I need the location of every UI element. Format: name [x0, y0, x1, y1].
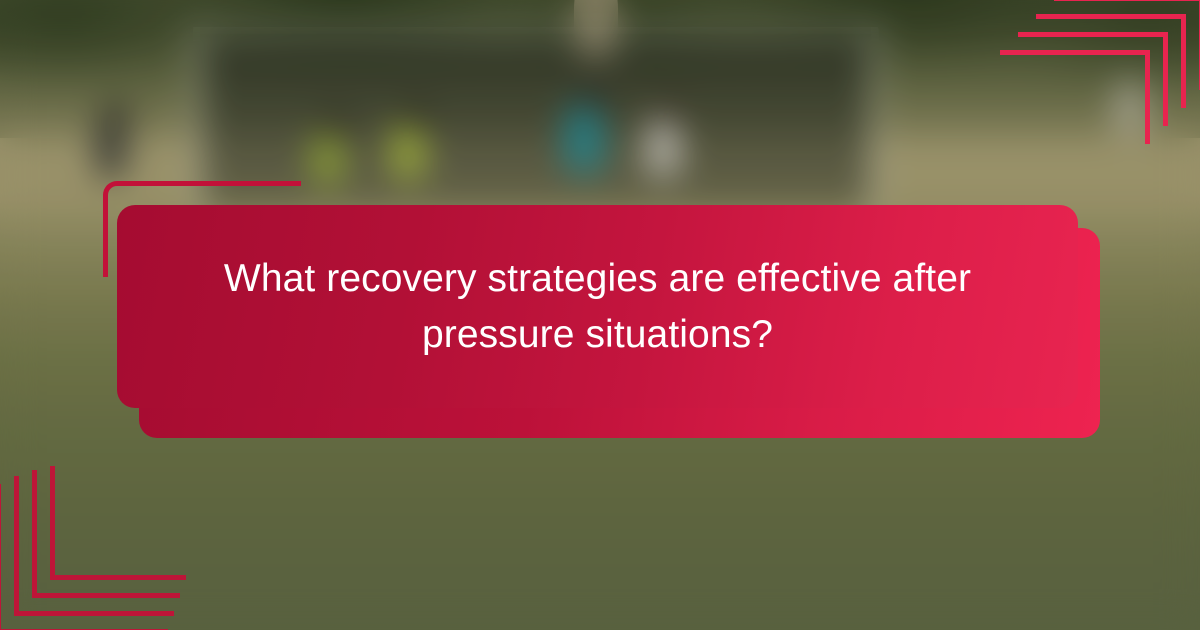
question-card-canvas: What recovery strategies are effective a… [0, 0, 1200, 630]
question-text: What recovery strategies are effective a… [218, 251, 978, 362]
question-card-body: What recovery strategies are effective a… [117, 205, 1078, 408]
